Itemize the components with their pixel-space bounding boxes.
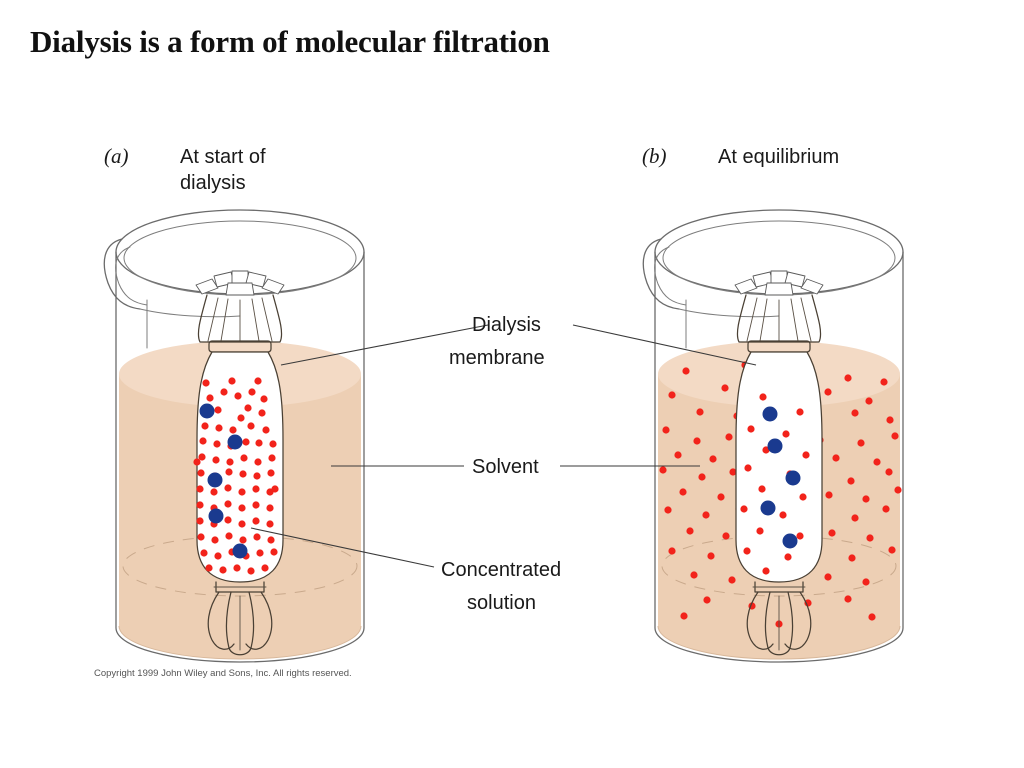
dialysis-figure: (a) At start of dialysis (b) At equilibr… [0,0,1024,768]
panel-b-caption-line1: At equilibrium [718,146,839,168]
callout-solvent: Solvent [331,456,700,478]
callout-concentrated-solution-line2: solution [467,592,536,614]
callout-solvent-line1: Solvent [472,456,539,478]
callout-dialysis-membrane-line2: membrane [449,347,545,369]
panel-b-beaker [643,210,903,662]
panel-a-beaker [104,210,364,662]
figure-svg: (a) At start of dialysis (b) At equilibr… [0,0,1024,768]
copyright-notice: Copyright 1999 John Wiley and Sons, Inc.… [94,668,352,679]
panel-a-caption-line1: At start of [180,146,266,168]
callout-concentrated-solution-line1: Concentrated [441,559,561,581]
panel-a-caption-line2: dialysis [180,172,246,194]
panel-b-bag-clip [735,271,823,295]
panel-b-tag: (b) [642,144,667,168]
callout-dialysis-membrane-line1: Dialysis [472,314,541,336]
panel-a-bag-clip [196,271,284,295]
panel-a-tag: (a) [104,144,129,168]
